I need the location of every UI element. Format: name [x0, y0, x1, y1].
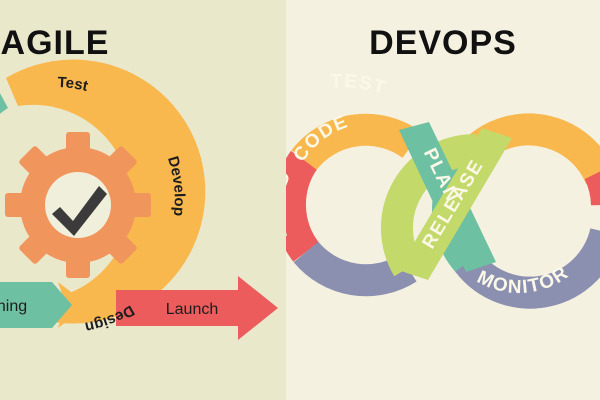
devops-panel: DEVOPS [286, 0, 600, 400]
gear-check-icon [5, 132, 151, 278]
devops-stage-label-test: TEST [330, 71, 389, 99]
devops-infinity-diagram: CODE BUILD TEST DEPLOY MONITOR PLAN RELE… [286, 0, 600, 400]
infographic-canvas: AGILE [0, 0, 600, 400]
agile-segment-deploy [0, 82, 8, 180]
agile-arrow-launch-label: Launch [166, 301, 219, 318]
agile-cycle-diagram: Planning Launch Test Develop Design Depl… [0, 0, 286, 400]
devops-stage-label-test-path: TEST [330, 71, 389, 99]
agile-arrow-planning-label: Planning [0, 298, 27, 315]
agile-panel: AGILE [0, 0, 286, 400]
